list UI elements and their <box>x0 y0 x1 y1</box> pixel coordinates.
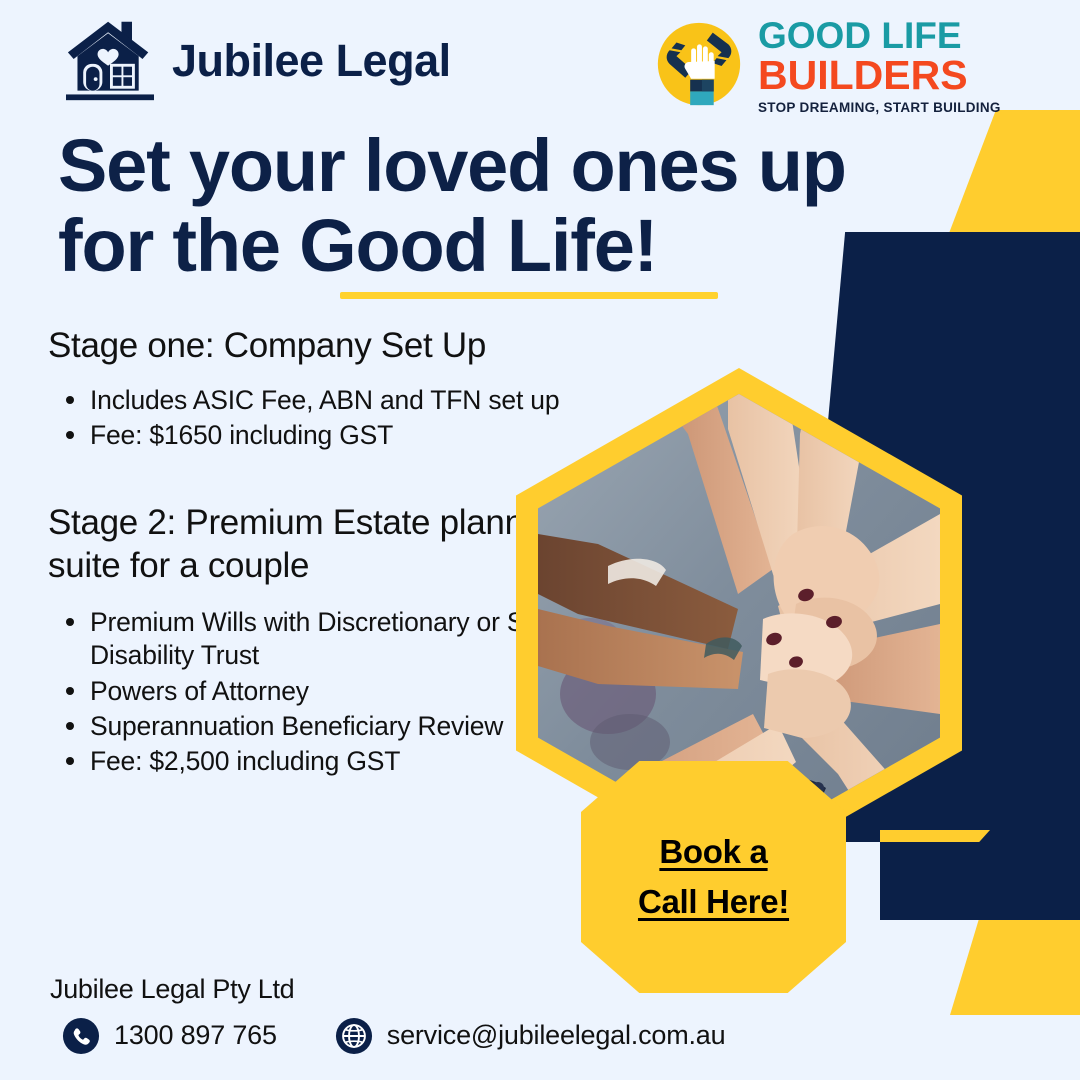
glb-tagline: STOP DREAMING, START BUILDING <box>758 101 1001 115</box>
poster-canvas: Jubilee Legal <box>0 0 1080 1080</box>
decor-yellow-parallelogram-bottom <box>950 920 1080 1015</box>
glb-line-builders: BUILDERS <box>758 55 1001 96</box>
contact-email[interactable]: service@jubileelegal.com.au <box>335 1017 726 1055</box>
stage-one-title: Stage one: Company Set Up <box>48 325 608 368</box>
page-title: Set your loved ones up for the Good Life… <box>58 126 948 286</box>
contact-phone[interactable]: 1300 897 765 <box>62 1017 277 1055</box>
headline-line-1: Set your loved ones up <box>58 126 948 206</box>
good-life-builders-logo: GOOD LIFE BUILDERS STOP DREAMING, START … <box>650 14 1001 115</box>
email-address: service@jubileelegal.com.au <box>387 1020 726 1051</box>
headline-underline-accent <box>340 292 718 299</box>
good-life-builders-text: GOOD LIFE BUILDERS STOP DREAMING, START … <box>758 14 1001 115</box>
cta-line-1: Book a <box>659 833 767 871</box>
jubilee-legal-wordmark: Jubilee Legal <box>172 38 451 83</box>
header: Jubilee Legal <box>0 0 1080 118</box>
book-a-call-button[interactable]: Book a Call Here! <box>581 761 846 993</box>
house-heart-icon <box>62 16 158 104</box>
glb-line-good-life: GOOD LIFE <box>758 17 1001 54</box>
phone-number: 1300 897 765 <box>114 1020 277 1051</box>
contact-row: 1300 897 765 service@jubileelegal.com.au <box>50 1017 950 1055</box>
jubilee-legal-logo: Jubilee Legal <box>62 16 451 104</box>
footer: Jubilee Legal Pty Ltd 1300 897 765 <box>50 975 950 1055</box>
headline-line-2: for the Good Life! <box>58 206 948 286</box>
globe-icon <box>335 1017 373 1055</box>
hand-wrench-badge-icon <box>650 15 748 113</box>
company-name: Jubilee Legal Pty Ltd <box>50 975 950 1005</box>
phone-icon <box>62 1017 100 1055</box>
cta-line-2: Call Here! <box>638 883 789 921</box>
